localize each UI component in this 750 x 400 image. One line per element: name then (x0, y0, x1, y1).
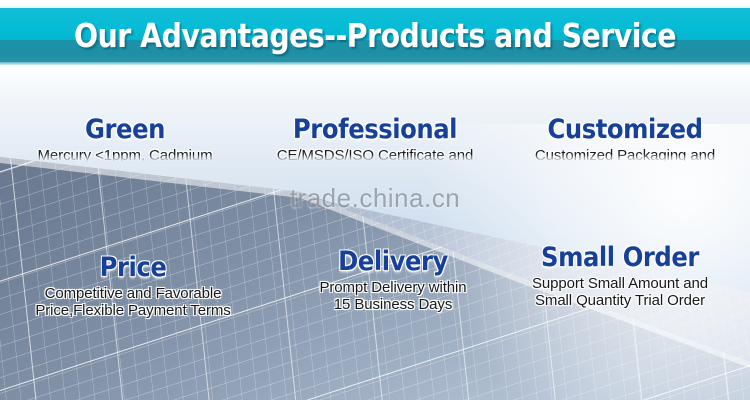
feature-desc-small-order-line1: Support Small Amount and (495, 275, 745, 292)
feature-cell-price: Price Competitive and Favorable Price,Fl… (8, 252, 258, 319)
feature-desc-delivery-line1: Prompt Delivery within (268, 279, 518, 296)
feature-heading-customized: Customized (513, 114, 738, 145)
feature-desc-price-line2: Price,Flexible Payment Terms (8, 302, 258, 319)
feature-heading-small-order: Small Order (508, 242, 733, 273)
feature-cell-green: Green Mercury <1ppm, Cadmium (0, 114, 250, 164)
feature-heading-price: Price (21, 252, 246, 283)
advantages-banner: Our Advantages--Products and Service tra… (0, 0, 750, 400)
feature-desc-price-line1: Competitive and Favorable (8, 285, 258, 302)
feature-desc-green: Mercury <1ppm, Cadmium (0, 147, 250, 164)
banner-header-band: Our Advantages--Products and Service (0, 8, 750, 62)
feature-desc-small-order-line2: Small Quantity Trial Order (495, 292, 745, 309)
banner-title: Our Advantages--Products and Service (53, 16, 698, 56)
feature-desc-professional: CE/MSDS/ISO Certificate and (250, 147, 500, 164)
feature-desc-customized: Customized Packaging and (500, 147, 750, 164)
feature-grid: Green Mercury <1ppm, Cadmium Professiona… (0, 62, 750, 400)
feature-cell-professional: Professional CE/MSDS/ISO Certificate and (250, 114, 500, 164)
feature-heading-green: Green (13, 114, 238, 145)
feature-heading-professional: Professional (263, 114, 488, 145)
feature-heading-delivery: Delivery (281, 246, 506, 277)
feature-cell-customized: Customized Customized Packaging and (500, 114, 750, 164)
feature-cell-small-order: Small Order Support Small Amount and Sma… (495, 242, 745, 309)
feature-desc-delivery-line2: 15 Business Days (268, 296, 518, 313)
feature-cell-delivery: Delivery Prompt Delivery within 15 Busin… (268, 246, 518, 313)
